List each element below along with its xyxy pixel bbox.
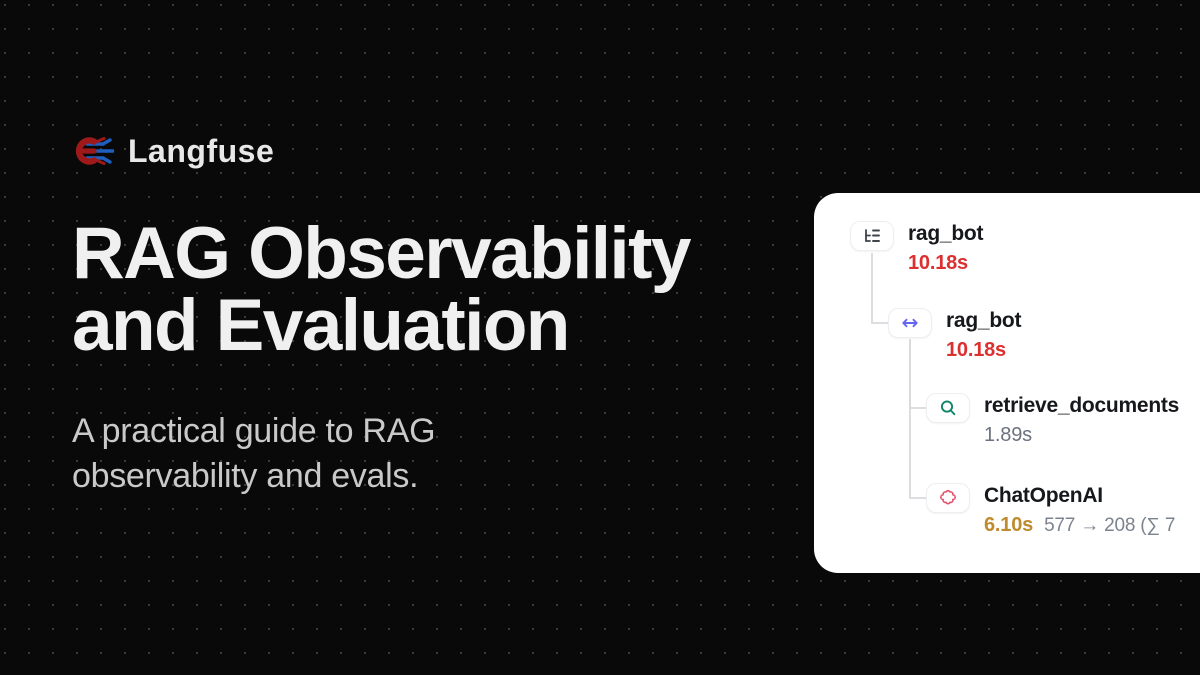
trace-node-body: retrieve_documents 1.89s [984, 393, 1179, 446]
trace-node-duration: 10.18s [908, 252, 968, 274]
trace-node-name: ChatOpenAI [984, 484, 1175, 508]
trace-node-duration: 1.89s [984, 424, 1032, 446]
trace-node-name: rag_bot [946, 309, 1021, 333]
trace-node-duration: 10.18s [946, 339, 1006, 361]
openai-icon [926, 483, 970, 513]
trace-node-chatopenai[interactable]: ChatOpenAI 6.10s 577 → 208 (∑ 7 [926, 483, 1175, 536]
hero-banner: Langfuse RAG Observability and Evaluatio… [0, 0, 1200, 675]
headline-line-1: RAG Observability [72, 213, 690, 294]
trace-node-rag-bot-span[interactable]: rag_bot 10.18s [888, 308, 1021, 361]
headline-line-2: and Evaluation [72, 285, 569, 366]
subtitle-line-2: observability and evals. [72, 457, 418, 495]
trace-node-meta: 1.89s [984, 424, 1179, 446]
hero-left-column: Langfuse RAG Observability and Evaluatio… [72, 128, 802, 499]
trace-node-tokens: 577 → 208 (∑ 7 [1044, 516, 1175, 537]
trace-node-body: rag_bot 10.18s [946, 308, 1021, 361]
trace-node-meta: 10.18s [946, 339, 1021, 361]
langfuse-logo-icon [72, 136, 114, 166]
trace-node-meta: 6.10s 577 → 208 (∑ 7 [984, 514, 1175, 537]
trace-node-body: ChatOpenAI 6.10s 577 → 208 (∑ 7 [984, 483, 1175, 536]
trace-node-retrieve-documents[interactable]: retrieve_documents 1.89s [926, 393, 1179, 446]
trace-node-body: rag_bot 10.18s [908, 221, 983, 274]
trace-node-rag-bot-root[interactable]: rag_bot 10.18s [850, 221, 983, 274]
trace-tree: rag_bot 10.18s [814, 193, 1200, 573]
trace-node-name: retrieve_documents [984, 394, 1179, 418]
page-title: RAG Observability and Evaluation [72, 218, 802, 361]
brand-lockup: Langfuse [72, 128, 802, 174]
trace-node-meta: 10.18s [908, 252, 983, 274]
page-subtitle: A practical guide to RAG observability a… [72, 409, 592, 499]
trace-node-duration: 6.10s [984, 514, 1033, 536]
subtitle-line-1: A practical guide to RAG [72, 412, 435, 450]
arrows-left-right-icon [888, 308, 932, 338]
trace-tree-card: rag_bot 10.18s [814, 193, 1200, 573]
list-tree-icon [850, 221, 894, 251]
brand-name: Langfuse [128, 135, 274, 167]
search-icon [926, 393, 970, 423]
trace-node-name: rag_bot [908, 222, 983, 246]
